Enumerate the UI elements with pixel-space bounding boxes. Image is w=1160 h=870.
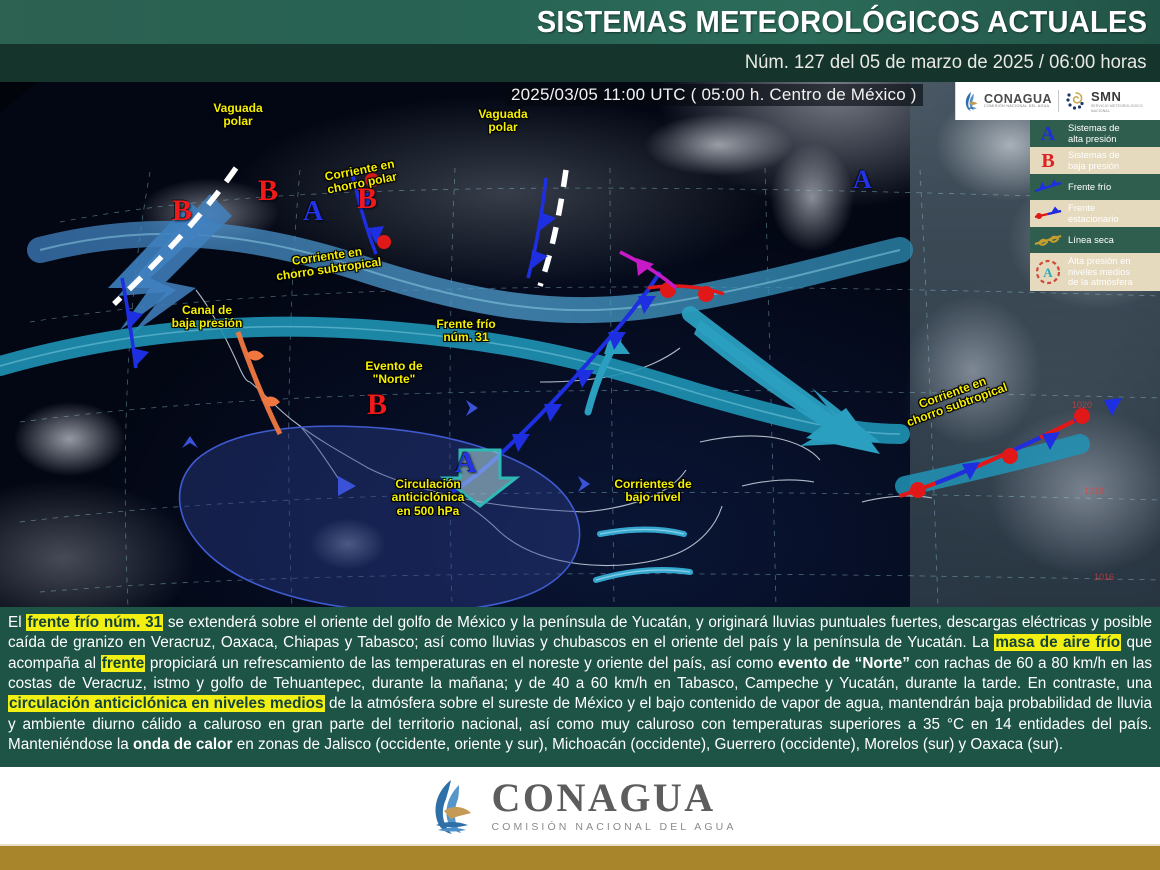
summary-segment-11: onda de calor xyxy=(133,736,232,753)
footer-gold-bar xyxy=(0,846,1160,870)
low-level-currents xyxy=(596,530,690,581)
forecast-summary-text: El frente frío núm. 31 se extenderá sobr… xyxy=(8,613,1152,755)
summary-segment-5: frente xyxy=(101,655,146,672)
satellite-map[interactable]: 2025/03/05 11:00 UTC ( 05:00 h. Centro d… xyxy=(0,82,1160,607)
legend-label-dry-line: Línea seca xyxy=(1068,235,1114,246)
stationary-front-icon xyxy=(1033,204,1063,224)
legend-label-cold-front: Frente frío xyxy=(1068,182,1111,193)
dry-line-icon xyxy=(1033,230,1063,250)
footer-brand-subtitle: COMISIÓN NACIONAL DEL AGUA xyxy=(492,822,737,833)
summary-segment-3: masa de aire frío xyxy=(994,634,1121,651)
smn-logo-text: SMN SERVICIO METEOROLÓGICO NACIONAL xyxy=(1091,89,1154,113)
agency-logo-bar: CONAGUA COMISIÓN NACIONAL DEL AGUA SMN S… xyxy=(955,82,1160,120)
anticyclonic-circulation-500hpa xyxy=(180,426,580,607)
legend-item-mid-level-high: A Alta presión enniveles mediosde la atm… xyxy=(1030,253,1160,291)
conagua-logo-icon xyxy=(424,777,478,835)
smn-sub: SERVICIO METEOROLÓGICO NACIONAL xyxy=(1091,104,1154,113)
bulletin-number-date: Núm. 127 del 05 de marzo de 2025 / 06:00… xyxy=(745,52,1160,74)
footer-branding: CONAGUA COMISIÓN NACIONAL DEL AGUA xyxy=(0,767,1160,844)
summary-segment-12: en zonas de Jalisco (occidente, oriente … xyxy=(232,736,1063,753)
map-contour-label-4: 1018 xyxy=(1084,486,1104,496)
cold-front-icon xyxy=(1033,177,1063,197)
map-timestamp: 2025/03/05 11:00 UTC ( 05:00 h. Centro d… xyxy=(505,84,923,106)
summary-segment-6: propiciará un refrescamiento de las temp… xyxy=(145,655,778,672)
cold-front-central-usa xyxy=(528,178,556,278)
map-contour-label-5: 1016 xyxy=(1094,572,1114,582)
footer-brand-name: CONAGUA xyxy=(492,778,737,818)
conagua-logo-small: CONAGUA COMISIÓN NACIONAL DEL AGUA xyxy=(962,90,1052,112)
letter-B-icon: B xyxy=(1033,151,1063,171)
smn-spiral-icon xyxy=(1065,90,1085,112)
dry-line-orange xyxy=(238,332,280,434)
legend-label-low-pressure: Sistemas debaja presión xyxy=(1068,150,1120,171)
smn-name: SMN xyxy=(1091,89,1154,104)
legend-item-stationary-front: Frenteestacionario xyxy=(1030,200,1160,227)
conagua-sub-small: COMISIÓN NACIONAL DEL AGUA xyxy=(984,105,1052,109)
legend-item-cold-front: Frente frío xyxy=(1030,174,1160,200)
footer-text-block: CONAGUA COMISIÓN NACIONAL DEL AGUA xyxy=(492,778,737,833)
summary-segment-1: frente frío núm. 31 xyxy=(26,614,163,631)
flow-arrow-southeast xyxy=(690,314,880,454)
logo-divider xyxy=(1058,90,1059,112)
legend-item-low-pressure: B Sistemas debaja presión xyxy=(1030,147,1160,174)
summary-segment-0: El xyxy=(8,614,26,631)
map-legend: A Sistemas dealta presión B Sistemas deb… xyxy=(1030,120,1160,291)
header-subtitle-bar: Núm. 127 del 05 de marzo de 2025 / 06:00… xyxy=(0,44,1160,82)
legend-item-high-pressure: A Sistemas dealta presión xyxy=(1030,120,1160,147)
subtropical-jet-atlantic xyxy=(905,444,1080,486)
map-contour-label-3: 1020 xyxy=(1072,400,1092,410)
mid-level-high-icon: A xyxy=(1033,258,1063,286)
summary-segment-9: circulación anticiclónica en niveles med… xyxy=(8,695,325,712)
letter-A-icon: A xyxy=(1033,124,1063,144)
legend-label-mid-level-high: Alta presión enniveles mediosde la atmós… xyxy=(1068,256,1133,288)
weather-bulletin-page: SISTEMAS METEOROLÓGICOS ACTUALES Núm. 12… xyxy=(0,0,1160,870)
legend-item-dry-line: Línea seca xyxy=(1030,227,1160,253)
map-overlay-graphics xyxy=(0,82,1160,607)
header-title-bar: SISTEMAS METEOROLÓGICOS ACTUALES xyxy=(0,0,1160,44)
page-title: SISTEMAS METEOROLÓGICOS ACTUALES xyxy=(536,4,1160,40)
summary-segment-2: se extenderá sobre el oriente del golfo … xyxy=(8,614,1152,651)
summary-segment-7: evento de “Norte” xyxy=(778,655,910,672)
conagua-logo-text: CONAGUA COMISIÓN NACIONAL DEL AGUA xyxy=(984,93,1052,109)
forecast-summary-panel: El frente frío núm. 31 se extenderá sobr… xyxy=(0,607,1160,767)
legend-label-stationary-front: Frenteestacionario xyxy=(1068,203,1119,224)
svg-text:A: A xyxy=(1043,265,1053,280)
legend-label-high-pressure: Sistemas dealta presión xyxy=(1068,123,1120,144)
conagua-eagle-water-icon xyxy=(962,90,980,112)
occluded-front-magenta xyxy=(620,252,676,288)
